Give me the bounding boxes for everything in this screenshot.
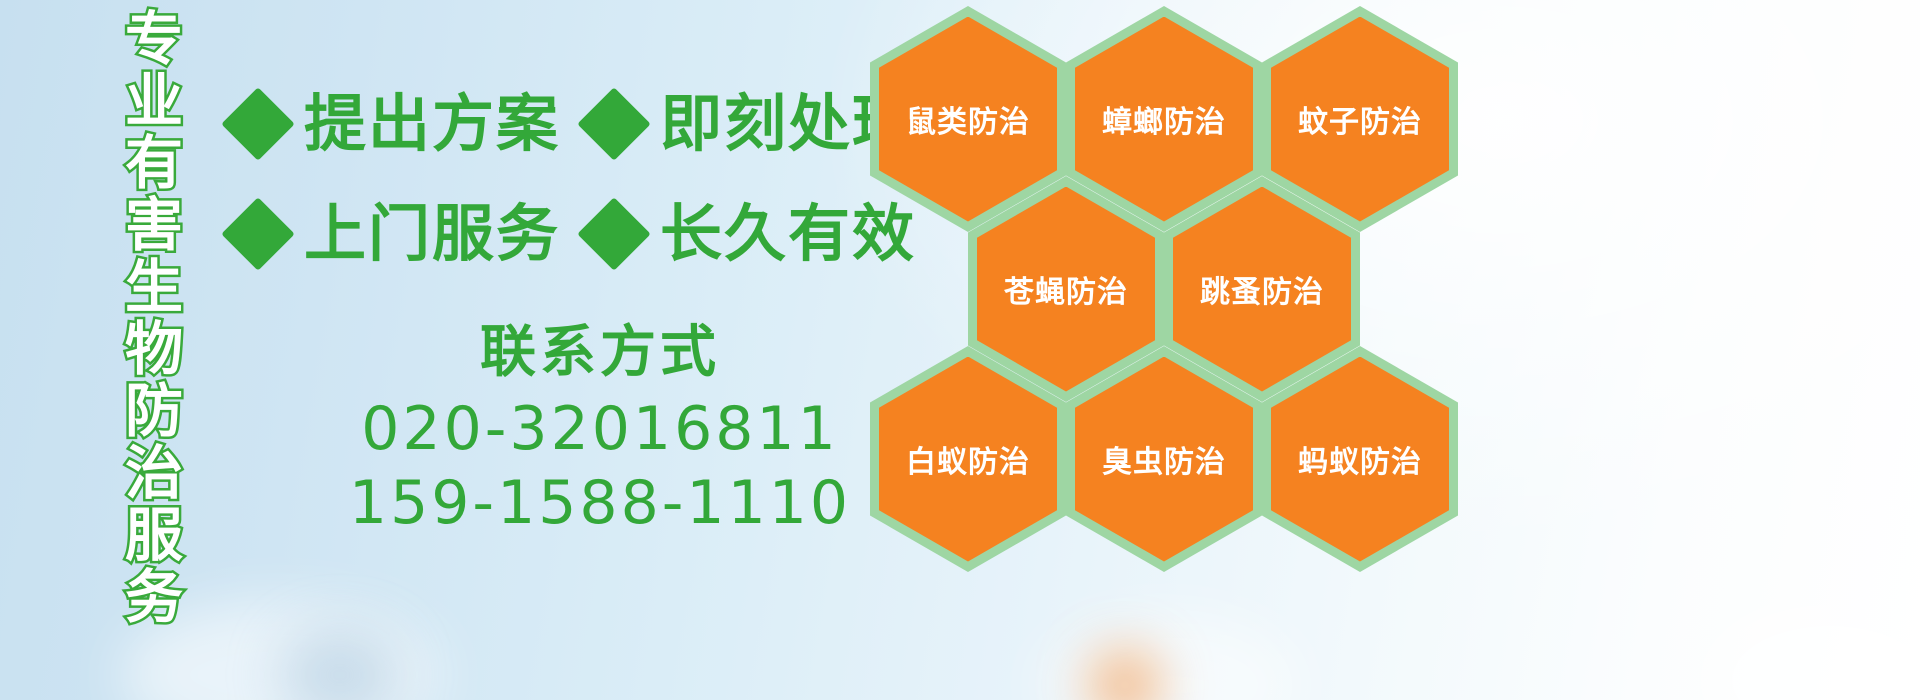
background-blur-blob [280,630,400,700]
phone-mobile[interactable]: 159-1588-1110 [300,466,900,540]
hex-inner: 蟑螂防治 [1075,17,1253,222]
hex-inner: 白蚁防治 [879,357,1057,562]
feature-item-onsite-service: 上门服务 [232,198,560,270]
headline-char: 专 [125,8,183,70]
headline-char: 务 [125,566,183,628]
diamond-icon [221,87,295,161]
hex-inner: 苍蝇防治 [977,187,1155,392]
feature-label: 提出方案 [304,88,560,160]
service-label: 蚊子防治 [1298,97,1422,141]
hex-inner: 蚊子防治 [1271,17,1449,222]
diamond-icon [221,197,295,271]
hex-inner: 跳蚤防治 [1173,187,1351,392]
diamond-icon [577,197,651,271]
headline-char: 有 [125,132,183,194]
service-label: 蚂蚁防治 [1298,437,1422,481]
hex-inner: 鼠类防治 [879,17,1057,222]
contact-block: 联系方式 020-32016811 159-1588-1110 [300,320,900,540]
service-label: 苍蝇防治 [1004,267,1128,311]
hex-inner: 蚂蚁防治 [1271,357,1449,562]
service-label: 鼠类防治 [906,97,1030,141]
contact-heading: 联系方式 [300,320,900,386]
vertical-headline: 专 业 有 害 生 物 防 治 服 务 [106,8,202,568]
hex-inner: 臭虫防治 [1075,357,1253,562]
background-blur-blob [1700,600,1920,700]
feature-item-propose-plan: 提出方案 [232,88,560,160]
service-label: 跳蚤防治 [1200,267,1324,311]
service-label: 白蚁防治 [906,437,1030,481]
background-blur-blob [1040,615,1300,700]
phone-landline[interactable]: 020-32016811 [300,392,900,466]
service-label: 臭虫防治 [1102,437,1226,481]
pest-control-banner: 专 业 有 害 生 物 防 治 服 务 提出方案 即刻处理 上门服务 长久有效 [0,0,1920,700]
headline-char: 治 [125,442,183,504]
feature-label: 上门服务 [304,198,560,270]
feature-row-2: 上门服务 长久有效 [232,198,916,270]
headline-char: 防 [125,380,183,442]
headline-char: 生 [125,256,183,318]
service-honeycomb-grid: 鼠类防治 蟑螂防治 蚊子防治 苍蝇防治 跳蚤防治 白蚁防治 [860,0,1480,580]
headline-char: 业 [125,70,183,132]
diamond-icon [577,87,651,161]
headline-char: 害 [125,194,183,256]
service-label: 蟑螂防治 [1102,97,1226,141]
headline-char: 物 [125,318,183,380]
background-blur-blob-orange [1090,650,1160,700]
headline-char: 服 [125,504,183,566]
feature-row-1: 提出方案 即刻处理 [232,88,916,160]
